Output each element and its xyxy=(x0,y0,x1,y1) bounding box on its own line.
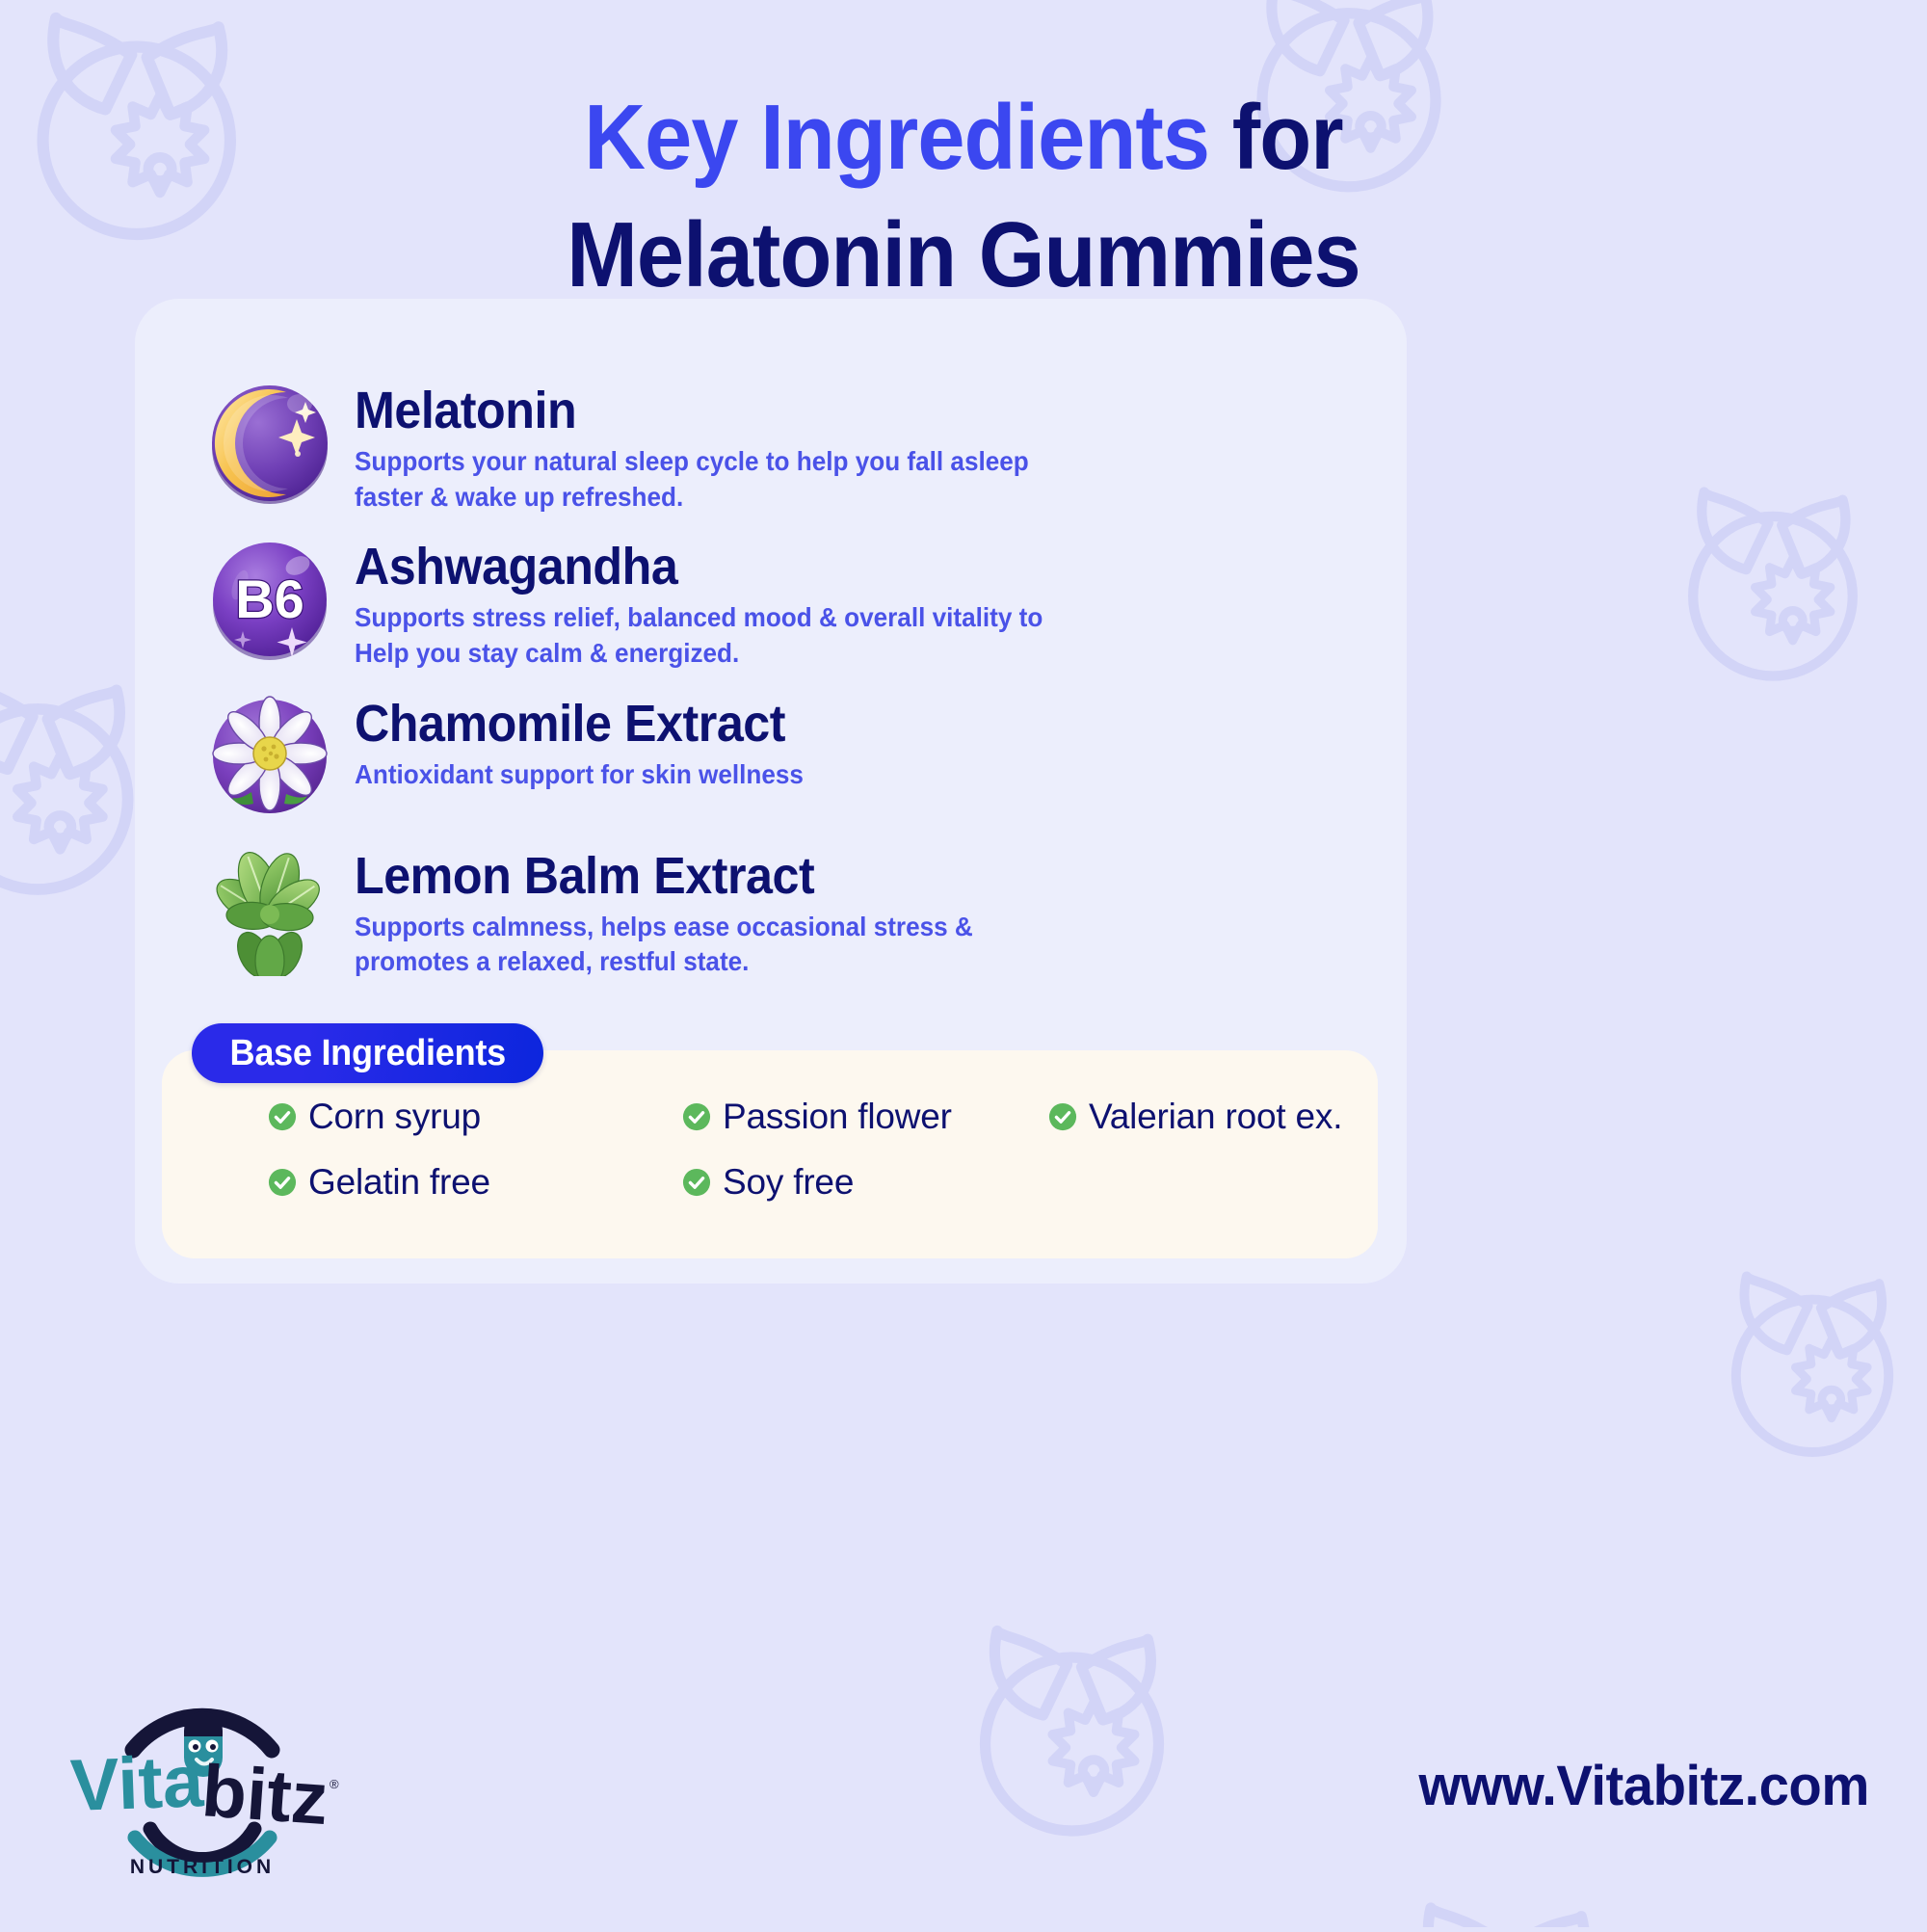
ingredient-row: Chamomile Extract Antioxidant support fo… xyxy=(202,689,1339,824)
svg-text:B6: B6 xyxy=(235,569,304,629)
list-item: Soy free xyxy=(682,1162,1048,1203)
page-title-line-2: Melatonin Gummies xyxy=(77,209,1850,302)
ingredient-desc-line-2: Help you stay calm & energized. xyxy=(355,638,739,668)
check-circle-icon xyxy=(1048,1102,1077,1131)
ingredient-desc-line-1: Antioxidant support for skin wellness xyxy=(355,759,804,789)
ingredient-name: Ashwagandha xyxy=(355,540,1028,594)
base-ingredients-badge-label: Base Ingredients xyxy=(230,1033,506,1074)
ingredient-text-block: Ashwagandha Supports stress relief, bala… xyxy=(355,532,1079,671)
list-item: Passion flower xyxy=(682,1097,1048,1137)
check-circle-icon xyxy=(682,1168,711,1197)
base-ingredient-label: Corn syrup xyxy=(308,1097,481,1137)
page-header: Key Ingredients for Melatonin Gummies xyxy=(0,92,1927,302)
list-item: Valerian root ex. xyxy=(1048,1097,1378,1137)
ingredient-desc-line-1: Supports calmness, helps ease occasional… xyxy=(355,912,973,941)
logo-wordmark-vita: Vita xyxy=(69,1740,206,1827)
ingredient-text-block: Chamomile Extract Antioxidant support fo… xyxy=(355,689,827,793)
ingredient-name: Chamomile Extract xyxy=(355,697,794,751)
chamomile-flower-gummy-icon xyxy=(202,689,337,824)
ingredient-row: Melatonin Supports your natural sleep cy… xyxy=(202,376,1339,515)
ingredient-desc-line-1: Supports your natural sleep cycle to hel… xyxy=(355,446,1029,476)
ingredient-row: B6 Ashwagandha Supports stress relief, b… xyxy=(202,532,1339,671)
ingredient-desc-line-2: faster & wake up refreshed. xyxy=(355,482,683,512)
list-item: Corn syrup xyxy=(268,1097,682,1137)
b6-gummy-icon: B6 xyxy=(202,532,337,667)
mint-leaves-icon xyxy=(202,841,337,976)
check-circle-icon xyxy=(268,1168,297,1197)
vitabitz-logo: Vita bitz ® NUTRITION xyxy=(58,1688,347,1886)
check-circle-icon xyxy=(268,1102,297,1131)
base-ingredient-label: Gelatin free xyxy=(308,1162,490,1203)
ingredient-description: Antioxidant support for skin wellness xyxy=(355,757,804,793)
logo-tagline: NUTRITION xyxy=(130,1856,275,1878)
base-ingredient-label: Soy free xyxy=(723,1162,854,1203)
ingredient-row: Lemon Balm Extract Supports calmness, he… xyxy=(202,841,1339,980)
title-rest-text: for xyxy=(1209,86,1343,189)
base-ingredients-grid: Corn syrup Passion flower Valerian root … xyxy=(162,1097,1378,1203)
ingredient-description: Supports calmness, helps ease occasional… xyxy=(355,910,973,980)
check-circle-icon xyxy=(682,1102,711,1131)
list-item: Gelatin free xyxy=(268,1162,682,1203)
title-accent-text: Key Ingredients xyxy=(584,86,1209,189)
ingredient-list: Melatonin Supports your natural sleep cy… xyxy=(202,376,1339,997)
ingredient-desc-line-1: Supports stress relief, balanced mood & … xyxy=(355,602,1043,632)
ingredient-description: Supports stress relief, balanced mood & … xyxy=(355,600,1043,671)
ingredient-description: Supports your natural sleep cycle to hel… xyxy=(355,444,1029,515)
ingredient-text-block: Lemon Balm Extract Supports calmness, he… xyxy=(355,841,1006,980)
ingredient-name: Lemon Balm Extract xyxy=(355,849,960,903)
base-ingredient-label: Valerian root ex. xyxy=(1089,1097,1342,1137)
crescent-moon-gummy-icon xyxy=(202,376,337,511)
ingredient-text-block: Melatonin Supports your natural sleep cy… xyxy=(355,376,1065,515)
page-title-line-1: Key Ingredients for xyxy=(77,92,1850,184)
base-ingredient-label: Passion flower xyxy=(723,1097,952,1137)
website-url[interactable]: www.Vitabitz.com xyxy=(1419,1754,1869,1818)
base-ingredients-badge: Base Ingredients xyxy=(192,1023,543,1083)
logo-registered-mark: ® xyxy=(330,1777,339,1791)
ingredient-desc-line-2: promotes a relaxed, restful state. xyxy=(355,946,749,976)
logo-wordmark-bitz: bitz xyxy=(199,1750,330,1840)
ingredient-name: Melatonin xyxy=(355,384,1015,437)
